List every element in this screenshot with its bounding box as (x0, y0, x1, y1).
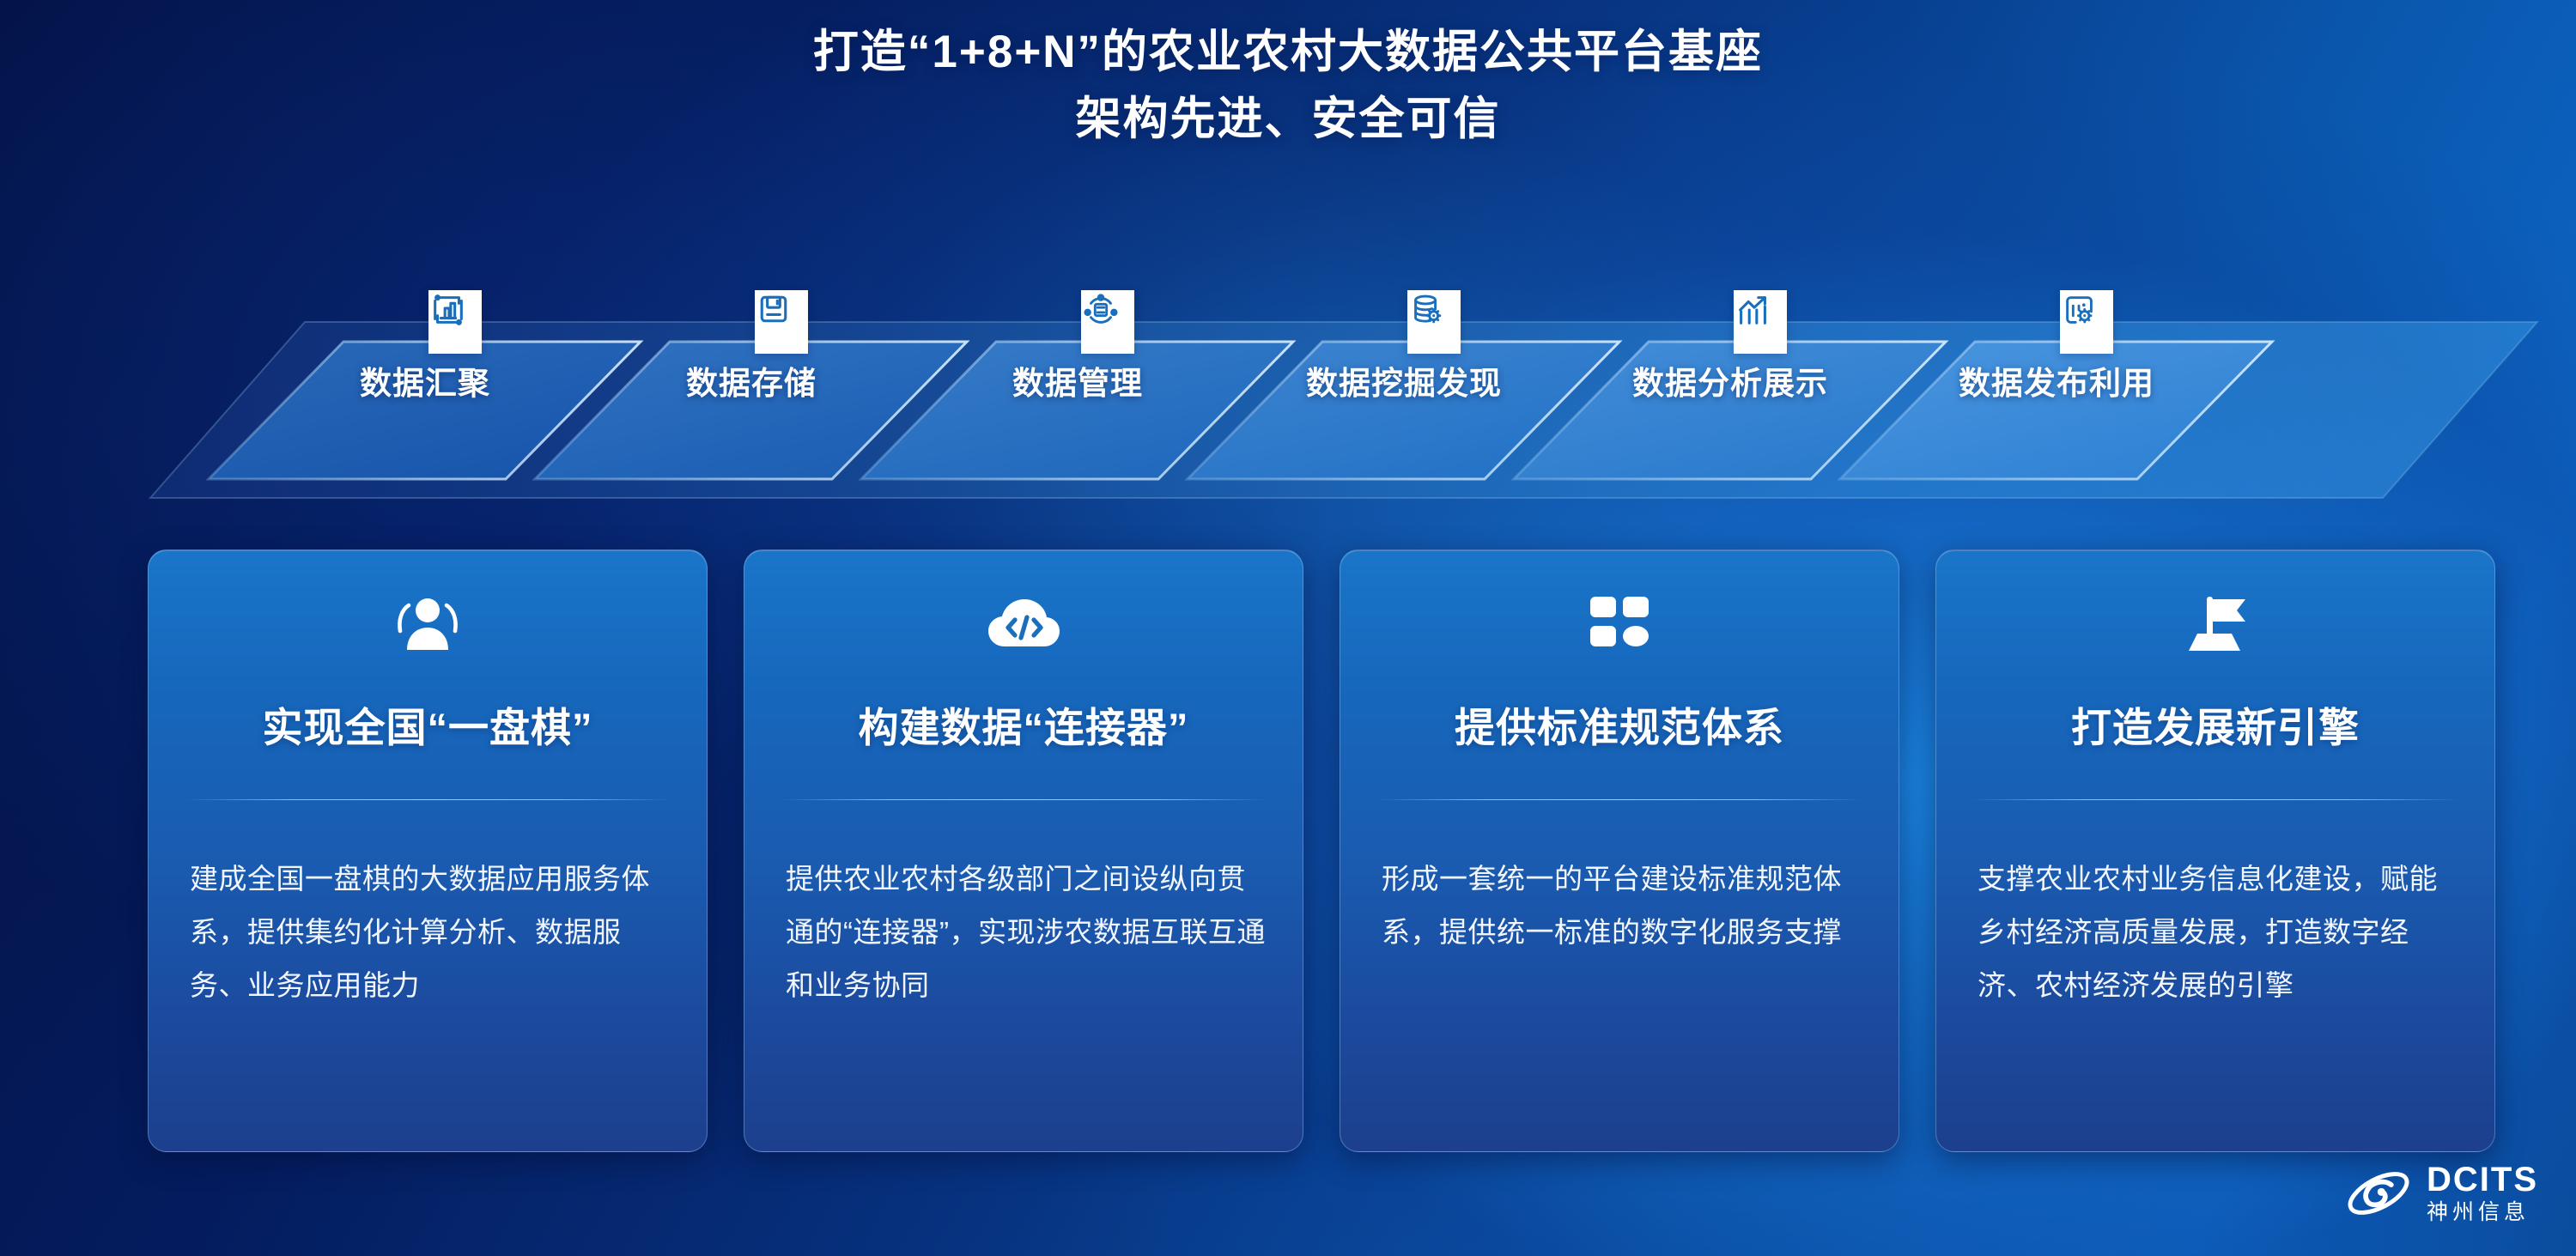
ribbon-step-4[interactable]: 数据挖掘发现 (1284, 283, 1524, 421)
four-blocks-icon (1572, 586, 1667, 662)
card-divider (1376, 799, 1862, 800)
ribbon-step-label-1: 数据汇聚 (360, 357, 490, 403)
feature-card-body-4: 支撑农业农村业务信息化建设，赋能乡村经济高质量发展，打造数字经济、农村经济发展的… (1978, 853, 2460, 1012)
ribbon-step-3[interactable]: 数据管理 (957, 283, 1198, 421)
feature-card-2[interactable]: 构建数据“连接器” 提供农业农村各级部门之间设纵向贯通的“连接器”，实现涉农数据… (744, 549, 1303, 1152)
ribbon-step-label-2: 数据存储 (686, 357, 817, 403)
card-divider (185, 799, 671, 800)
feature-card-title-2: 构建数据“连接器” (744, 695, 1303, 754)
ribbon-step-2[interactable]: 数据存储 (631, 283, 872, 421)
title-line-2: 架构先进、安全可信 (0, 86, 2576, 153)
feature-card-1[interactable]: 实现全国“一盘棋” 建成全国一盘棋的大数据应用服务体系，提供集约化计算分析、数据… (148, 549, 708, 1152)
logo-en-text: DCITS (2427, 1162, 2538, 1198)
ribbon-step-label-3: 数据管理 (1012, 357, 1143, 403)
node-network-icon (1081, 290, 1134, 354)
ribbon-step-6[interactable]: 数据发布利用 (1936, 283, 2177, 421)
dashboard-gear-icon (2060, 290, 2113, 354)
cloud-code-icon (976, 586, 1071, 662)
logo-text-block: DCITS 神州信息 (2427, 1162, 2538, 1225)
feature-card-4[interactable]: 打造发展新引擎 支撑农业农村业务信息化建设，赋能乡村经济高质量发展，打造数字经济… (1935, 549, 2495, 1152)
galaxy-swirl-icon (2342, 1165, 2415, 1222)
feature-card-title-3: 提供标准规范体系 (1340, 695, 1899, 754)
feature-card-body-3: 形成一套统一的平台建设标准规范体系，提供统一标准的数字化服务支撑 (1382, 853, 1864, 959)
trend-chart-icon (1734, 290, 1787, 354)
company-logo: DCITS 神州信息 (2342, 1162, 2538, 1225)
ribbon-step-5[interactable]: 数据分析展示 (1610, 283, 1850, 421)
bar-chart-frame-icon (428, 290, 482, 354)
flag-icon (2168, 586, 2263, 662)
feature-card-body-2: 提供农业农村各级部门之间设纵向贯通的“连接器”，实现涉农数据互联互通和业务协同 (786, 853, 1268, 1012)
card-divider (1972, 799, 2458, 800)
page-title: 打造“1+8+N”的农业农村大数据公共平台基座 架构先进、安全可信 (0, 19, 2576, 153)
logo-cn-text: 神州信息 (2427, 1199, 2538, 1225)
title-line-1: 打造“1+8+N”的农业农村大数据公共平台基座 (0, 19, 2576, 86)
ribbon-step-label-4: 数据挖掘发现 (1306, 357, 1502, 403)
feature-card-row: 实现全国“一盘棋” 建成全国一盘棋的大数据应用服务体系，提供集约化计算分析、数据… (0, 549, 2576, 1150)
feature-card-title-4: 打造发展新引擎 (1936, 695, 2494, 754)
feature-card-title-1: 实现全国“一盘棋” (149, 695, 707, 754)
database-gear-icon (1407, 290, 1461, 354)
floppy-disk-icon (755, 290, 808, 354)
process-ribbon: 数据汇聚 数据存储 数据管理 (0, 283, 2576, 524)
user-group-icon (380, 586, 475, 662)
ribbon-step-label-6: 数据发布利用 (1959, 357, 2154, 403)
ribbon-step-1[interactable]: 数据汇聚 (305, 283, 545, 421)
ribbon-step-label-5: 数据分析展示 (1632, 357, 1828, 403)
feature-card-3[interactable]: 提供标准规范体系 形成一套统一的平台建设标准规范体系，提供统一标准的数字化服务支… (1340, 549, 1899, 1152)
feature-card-body-1: 建成全国一盘棋的大数据应用服务体系，提供集约化计算分析、数据服务、业务应用能力 (190, 853, 672, 1012)
card-divider (781, 799, 1267, 800)
